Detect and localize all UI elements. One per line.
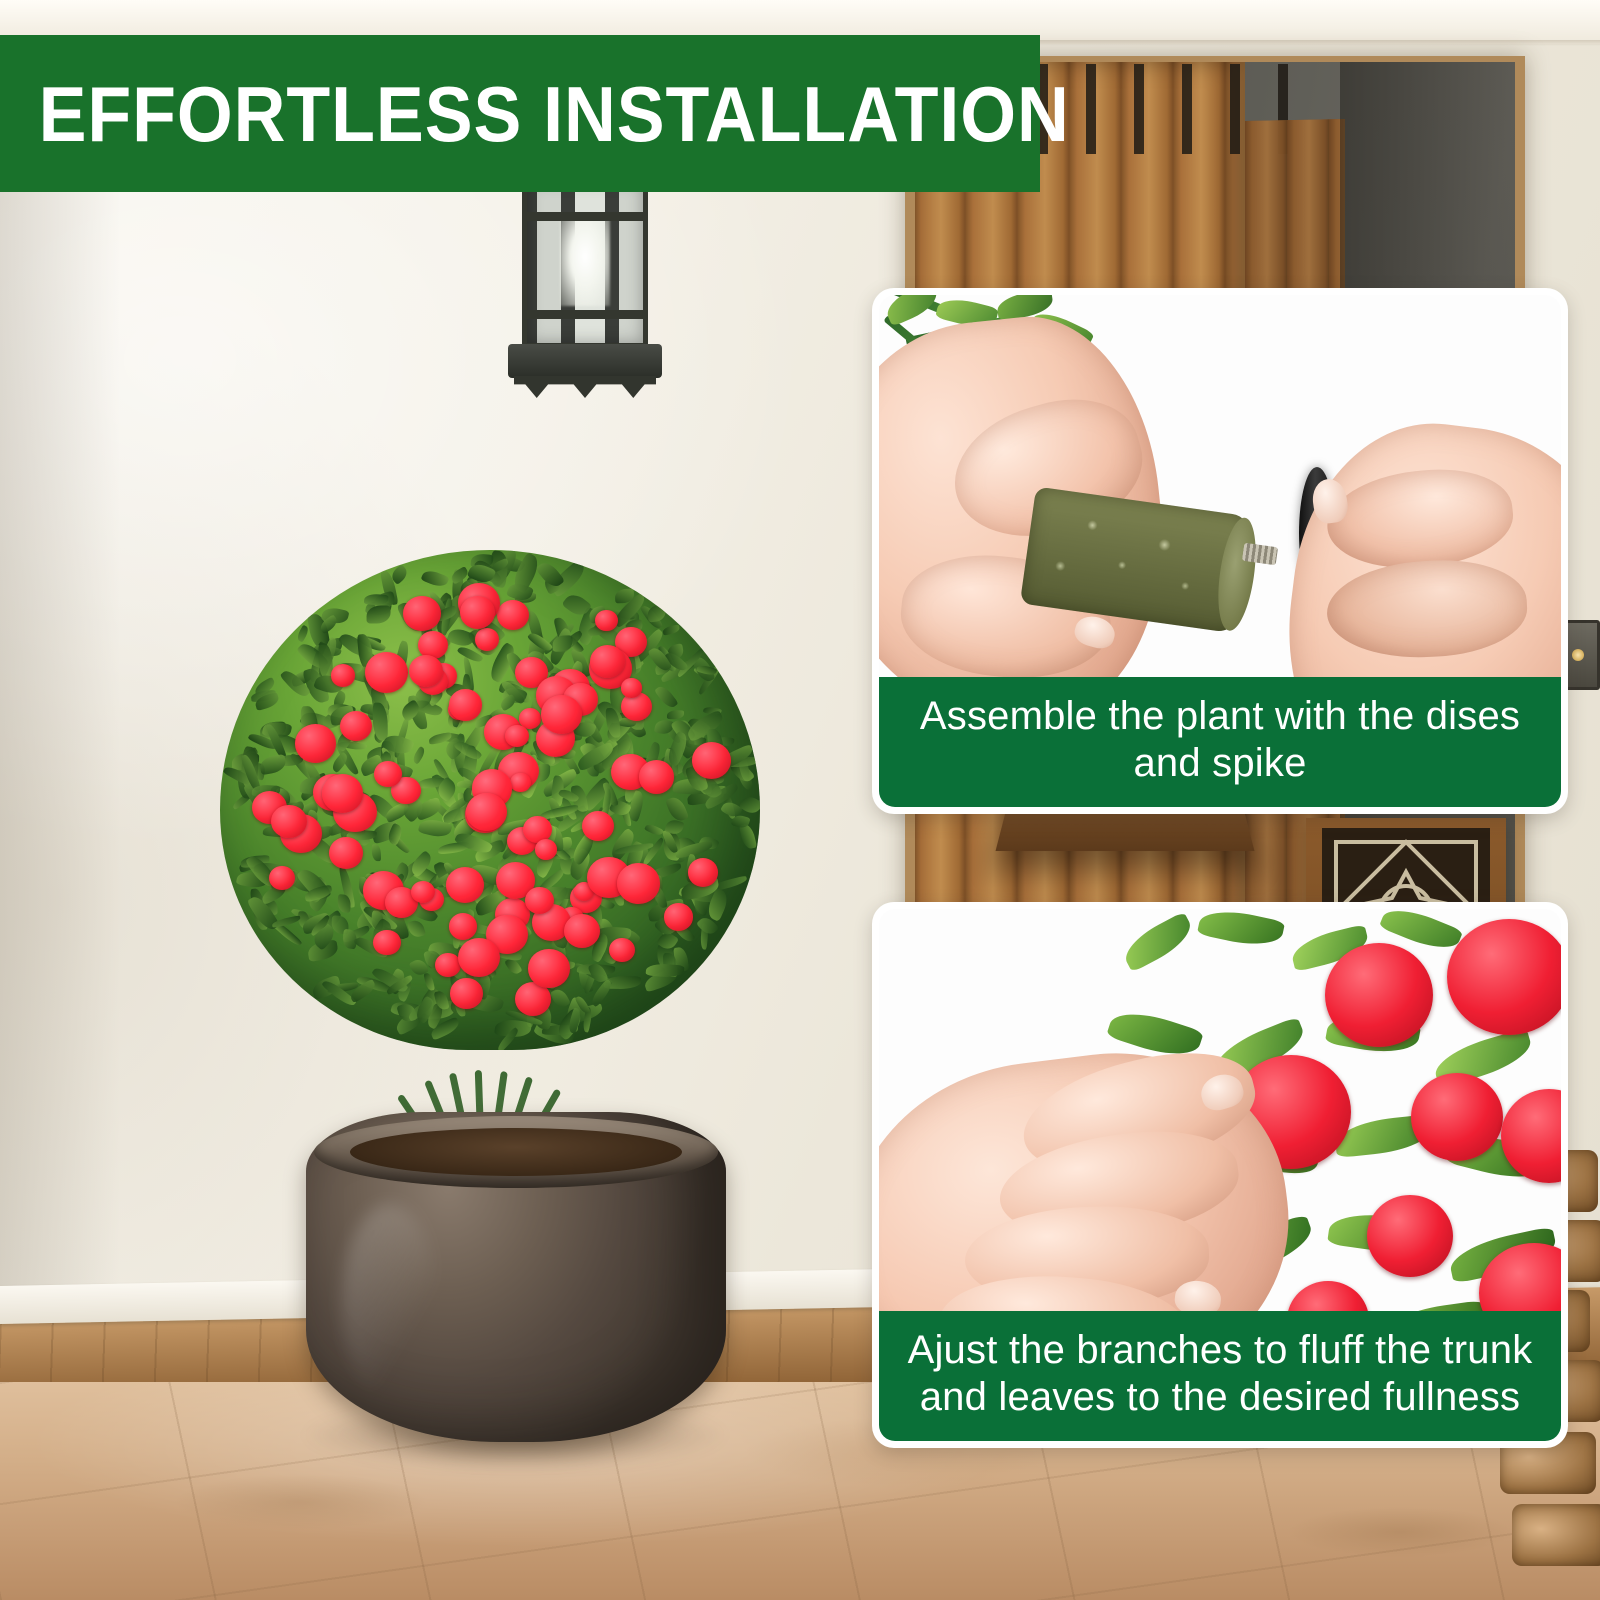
red-flower-bud [331, 664, 355, 686]
red-flower-bud [564, 914, 600, 948]
rose-bloom [1287, 1281, 1369, 1311]
red-flower-buds [220, 550, 760, 1050]
red-flower-bud [450, 978, 482, 1008]
red-flower-bud [449, 689, 482, 720]
red-flower-bud [449, 913, 478, 940]
red-flower-bud [621, 678, 641, 697]
lantern-scallop-trim [514, 376, 656, 398]
red-flower-bud [525, 887, 554, 914]
red-flower-bud [373, 930, 400, 956]
red-flower-bud [535, 839, 557, 860]
red-flower-bud [460, 596, 495, 629]
red-flower-bud [639, 760, 675, 794]
red-flower-bud [403, 596, 441, 632]
red-flower-bud [510, 773, 531, 792]
red-flower-bud [497, 600, 529, 630]
pot-highlight [342, 1204, 438, 1400]
red-flower-bud [664, 903, 693, 930]
red-flower-bud [692, 742, 731, 779]
header-banner: EFFORTLESS INSTALLATION [0, 35, 1040, 192]
red-flower-bud [322, 774, 363, 812]
pot-soil [350, 1128, 682, 1176]
assemble-trunk-and-spike-photo [879, 295, 1561, 677]
rose-bloom [1447, 919, 1561, 1035]
lantern-bulb-glow [560, 216, 610, 306]
topiary-ball-canopy [220, 550, 760, 1050]
red-flower-bud [409, 655, 443, 687]
step-caption-assemble: Assemble the plant with the dises and sp… [879, 677, 1561, 807]
lantern-rail-lower [522, 310, 648, 319]
step-caption-fluff: Ajust the branches to fluff the trunk an… [879, 1311, 1561, 1441]
red-flower-bud [688, 858, 719, 887]
wall-corner-shadow [0, 0, 120, 1330]
page-title: EFFORTLESS INSTALLATION [0, 75, 1070, 153]
red-flower-bud [466, 793, 507, 832]
red-flower-bud [595, 610, 617, 631]
red-flower-bud [446, 867, 484, 903]
red-flower-bud [374, 761, 402, 787]
red-flower-bud [609, 938, 635, 962]
red-flower-bud [541, 695, 582, 733]
product-infographic: EFFORTLESS INSTALLATION [0, 0, 1600, 1600]
red-flower-bud [582, 811, 614, 841]
red-flower-bud [528, 949, 569, 988]
red-flower-bud [411, 881, 435, 904]
red-flower-bud [329, 837, 363, 869]
red-flower-bud [435, 953, 461, 977]
red-flower-bud [458, 938, 500, 977]
red-flower-bud [271, 805, 307, 838]
ceramic-planter-pot [306, 1112, 726, 1442]
rose-bloom [1411, 1073, 1503, 1161]
red-flower-bud [475, 628, 500, 651]
rose-bloom [1367, 1195, 1453, 1277]
lantern-rail-upper [522, 212, 648, 221]
red-flower-bud [269, 866, 295, 890]
red-flower-bud [295, 724, 336, 762]
red-flower-bud [505, 725, 529, 747]
step-card-assemble[interactable]: Assemble the plant with the dises and sp… [872, 288, 1568, 814]
step-card-fluff[interactable]: Ajust the branches to fluff the trunk an… [872, 902, 1568, 1448]
red-flower-bud [340, 711, 372, 741]
red-flower-bud [365, 652, 408, 693]
lantern-base [508, 344, 662, 378]
red-flower-bud [617, 863, 660, 904]
fluff-branches-photo [879, 909, 1561, 1311]
log [1512, 1504, 1600, 1566]
rose-bloom [1325, 943, 1433, 1047]
